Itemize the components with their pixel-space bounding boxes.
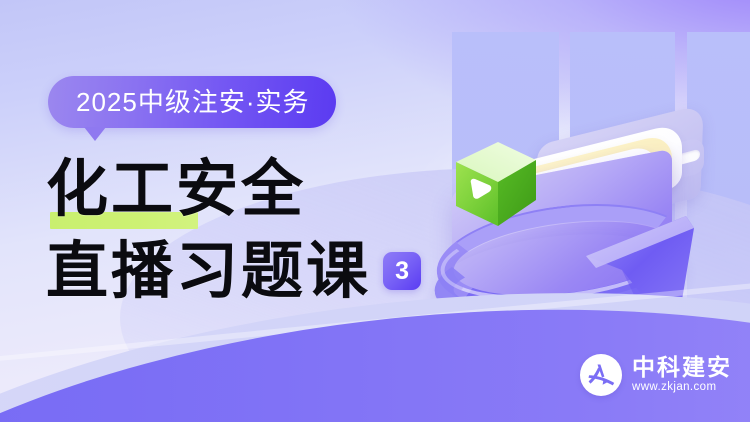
title-line-1-row: 化工安全 [46, 150, 421, 228]
course-badge-tail [84, 127, 106, 141]
episode-badge: 3 [383, 252, 421, 290]
brand-name: 中科建安 [632, 356, 732, 379]
logo-mark-svg [584, 358, 618, 392]
play-cube-svg [454, 136, 540, 228]
course-badge: 2025中级注安·实务 [48, 76, 336, 128]
title-line-2-row: 直播习题课 3 [46, 232, 421, 310]
page-title: 化工安全 直播习题课 3 [46, 150, 421, 310]
course-banner: 2025中级注安·实务 化工安全 直播习题课 3 中科建安 [0, 0, 750, 422]
play-cube [454, 136, 540, 228]
brand-url: www.zkjan.com [632, 382, 732, 394]
course-badge-label: 2025中级注安·实务 [76, 89, 310, 115]
title-line-1: 化工安全 [46, 158, 306, 220]
brand-logo: 中科建安 www.zkjan.com [580, 354, 732, 396]
episode-number: 3 [395, 259, 409, 284]
course-badge-pill: 2025中级注安·实务 [48, 76, 336, 128]
brand-text: 中科建安 www.zkjan.com [632, 356, 732, 394]
zkjan-circle-logo-icon [580, 354, 622, 396]
title-line-2: 直播习题课 [46, 240, 371, 302]
